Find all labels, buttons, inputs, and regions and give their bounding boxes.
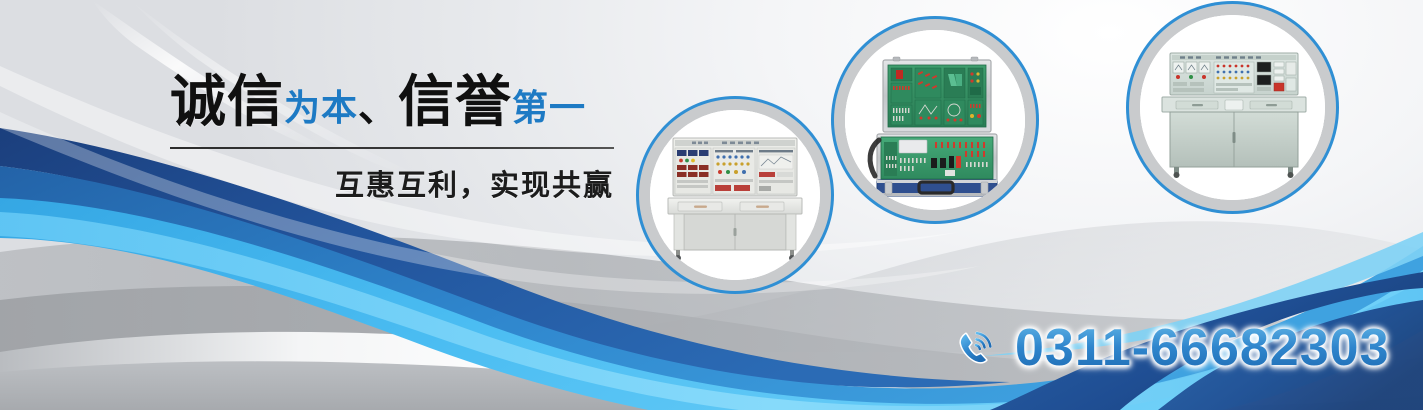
product-photo-portable-electronics-training-case bbox=[845, 30, 1025, 210]
contact-block[interactable]: 0311-66682303 bbox=[952, 322, 1390, 374]
product-circle-2[interactable] bbox=[845, 30, 1025, 210]
phone-call-icon bbox=[952, 325, 998, 371]
headline-part-4: 第一 bbox=[512, 90, 586, 126]
headline-part-1: 诚信 bbox=[170, 74, 284, 130]
product-circle-1[interactable] bbox=[650, 110, 820, 280]
headline-part-3: 信誉 bbox=[398, 74, 512, 130]
slogan-subtitle: 互惠互利，实现共赢 bbox=[170, 162, 614, 204]
promotional-banner: 诚信 为本 、 信誉 第一 互惠互利，实现共赢 bbox=[0, 0, 1423, 410]
headline-separator: 、 bbox=[358, 88, 398, 128]
phone-number[interactable]: 0311-66682303 bbox=[1015, 322, 1390, 374]
product-photo-electrical-machinery-test-bench bbox=[1140, 15, 1325, 200]
product-photo-electrical-training-console bbox=[650, 110, 820, 280]
product-circle-3[interactable] bbox=[1140, 15, 1325, 200]
headline: 诚信 为本 、 信誉 第一 bbox=[170, 74, 630, 138]
headline-part-2: 为本 bbox=[284, 90, 358, 126]
slogan-block: 诚信 为本 、 信誉 第一 互惠互利，实现共赢 bbox=[170, 74, 630, 204]
slogan-divider bbox=[170, 147, 614, 149]
